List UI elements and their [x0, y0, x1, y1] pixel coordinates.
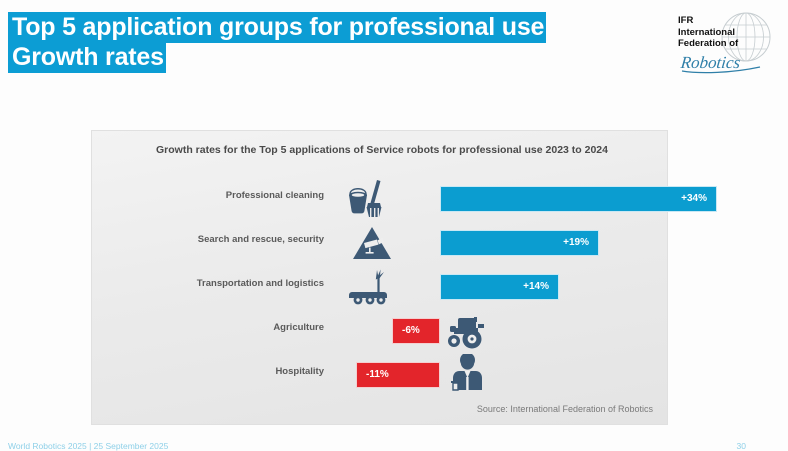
bar-hospitality: -11%	[356, 362, 440, 388]
page-title-line-2: Growth rates	[8, 42, 166, 73]
tractor-icon	[444, 312, 490, 352]
page-title: Top 5 application groups for professiona…	[8, 12, 628, 72]
bar-transportation-logistics: +14%	[440, 274, 559, 300]
category-label: Professional cleaning	[92, 190, 324, 201]
category-label: Search and rescue, security	[92, 234, 324, 245]
bar-value-label: -6%	[402, 319, 420, 343]
chart-row: Hospitality -11%	[92, 353, 669, 397]
page-title-line-1: Top 5 application groups for professiona…	[8, 12, 546, 43]
category-label: Agriculture	[92, 322, 324, 333]
logo-wordmark: IFR International Federation of	[678, 15, 738, 50]
bar-value-label: +19%	[563, 231, 589, 255]
chart-plot-area: Professional cleaning	[92, 177, 669, 392]
logo-line-3: Federation of	[678, 38, 738, 50]
category-label: Hospitality	[92, 366, 324, 377]
ifr-logo: IFR International Federation of Robotics	[678, 9, 774, 77]
logo-script-robotics: Robotics	[680, 51, 768, 80]
chart-row: Search and rescue, security +19%	[92, 221, 669, 265]
logo-line-1: IFR	[678, 15, 738, 27]
bucket-broom-icon	[347, 179, 393, 219]
svg-text:Robotics: Robotics	[680, 53, 742, 72]
hospitality-waiter-icon	[446, 354, 492, 394]
bar-agriculture: -6%	[392, 318, 440, 344]
chart-source-note: Source: International Federation of Robo…	[477, 404, 653, 414]
logistics-robot-icon	[348, 267, 394, 307]
category-label: Transportation and logistics	[92, 278, 324, 289]
bar-search-rescue-security: +19%	[440, 230, 599, 256]
chart-row: Transportation and logistics	[92, 265, 669, 309]
chart-row: Agriculture -6%	[92, 309, 669, 353]
bar-professional-cleaning: +34%	[440, 186, 717, 212]
footer-caption: World Robotics 2025 | 25 September 2025	[8, 441, 168, 451]
security-camera-triangle-icon	[350, 223, 396, 263]
bar-value-label: +34%	[681, 187, 707, 211]
chart-title: Growth rates for the Top 5 applications …	[142, 143, 622, 157]
bar-value-label: -11%	[366, 363, 389, 387]
logo-line-2: International	[678, 27, 738, 39]
chart-row: Professional cleaning	[92, 177, 669, 221]
footer-page-number: 30	[737, 441, 746, 451]
chart-panel: Growth rates for the Top 5 applications …	[91, 130, 668, 425]
bar-value-label: +14%	[523, 275, 549, 299]
